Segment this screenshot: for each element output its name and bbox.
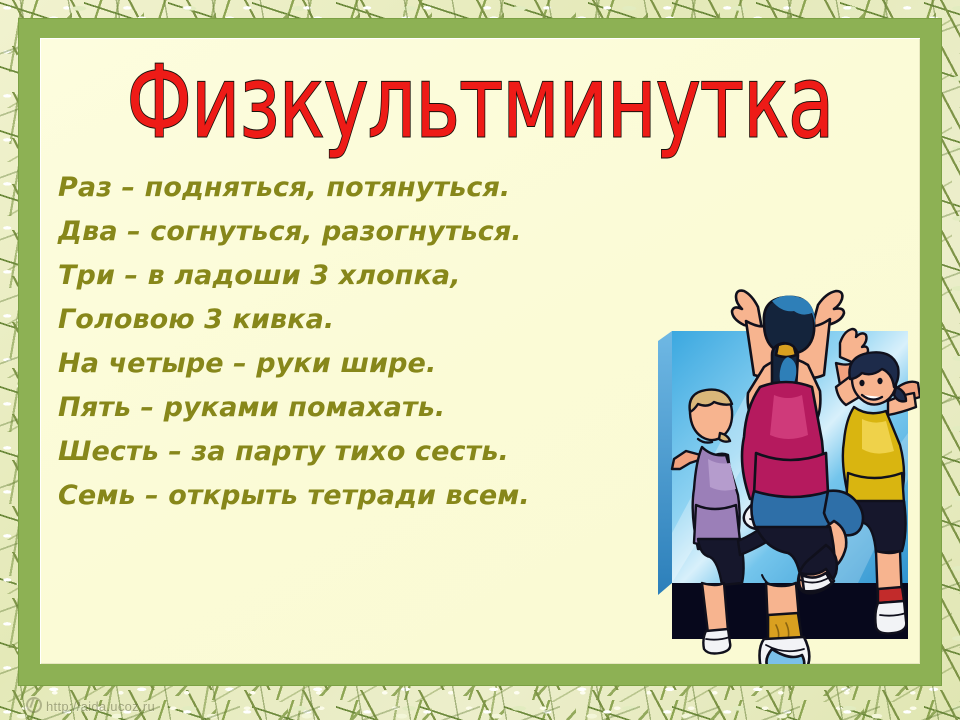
verse-line-2: Два – согнуться, разогнуться. [58,210,688,254]
verse-block: Раз – подняться, потянуться. Два – согну… [58,166,688,518]
verse-line-5: На четыре – руки шире. [58,342,688,386]
verse-line-8: Семь – открыть тетради всем. [58,474,688,518]
verse-line-1: Раз – подняться, потянуться. [58,166,688,210]
verse-line-3: Три – в ладоши 3 хлопка, [58,254,688,298]
page-title: Физкультминутка [127,52,834,152]
exercise-illustration [650,283,920,664]
verse-line-7: Шесть – за парту тихо сесть. [58,430,688,474]
watermark: http://aida.ucoz.ru [26,697,155,714]
watermark-url: http://aida.ucoz.ru [46,699,155,714]
title-container: Физкультминутка [40,52,920,128]
slide-canvas: Физкультминутка Раз – подняться, потянут… [0,0,960,720]
watermark-icon [26,697,42,713]
verse-line-4: Головою 3 кивка. [58,298,688,342]
verse-line-6: Пять – руками помахать. [58,386,688,430]
slide-inner-panel: Физкультминутка Раз – подняться, потянут… [40,38,920,664]
